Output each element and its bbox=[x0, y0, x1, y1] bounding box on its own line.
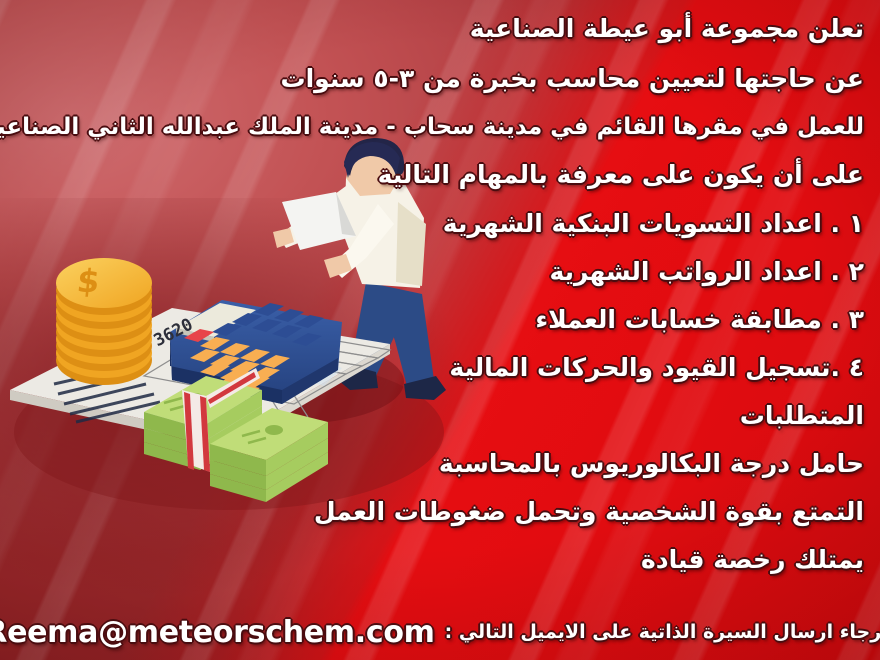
poster-text-column: تعلن مجموعة أبو عيطة الصناعية عن حاجتها … bbox=[0, 0, 874, 584]
headline-line-3: للعمل في مقرها القائم في مدينة سحاب - مد… bbox=[0, 104, 874, 150]
requirement-item-1: حامل درجة البكالوريوس بالمحاسبة bbox=[0, 440, 874, 488]
contact-email[interactable]: Reema@meteorschem.com bbox=[0, 615, 435, 650]
task-item-3: ٣ . مطابقة خسابات العملاء bbox=[0, 296, 874, 344]
task-item-2: ٢ . اعداد الرواتب الشهرية bbox=[0, 248, 874, 296]
job-advertisement-poster: 3620 bbox=[0, 0, 880, 660]
task-item-1: ١ . اعداد التسويات البنكية الشهرية bbox=[0, 200, 874, 248]
requirement-item-2: التمتع بقوة الشخصية وتحمل ضغوطات العمل bbox=[0, 488, 874, 536]
headline-line-4: على أن يكون على معرفة بالمهام التالية bbox=[0, 150, 874, 200]
cv-instruction-text: الرجاء ارسال السيرة الذاتية على الايميل … bbox=[445, 621, 880, 643]
contact-footer: الرجاء ارسال السيرة الذاتية على الايميل … bbox=[0, 608, 880, 656]
requirements-heading: المتطلبات bbox=[0, 392, 874, 440]
headline-line-1: تعلن مجموعة أبو عيطة الصناعية bbox=[0, 4, 874, 54]
headline-line-2: عن حاجتها لتعيين محاسب بخبرة من ٣-٥ سنوا… bbox=[0, 54, 874, 104]
requirement-item-3: يمتلك رخصة قيادة bbox=[0, 536, 874, 584]
task-item-4: ٤ .تسجيل القيود والحركات المالية bbox=[0, 344, 874, 392]
